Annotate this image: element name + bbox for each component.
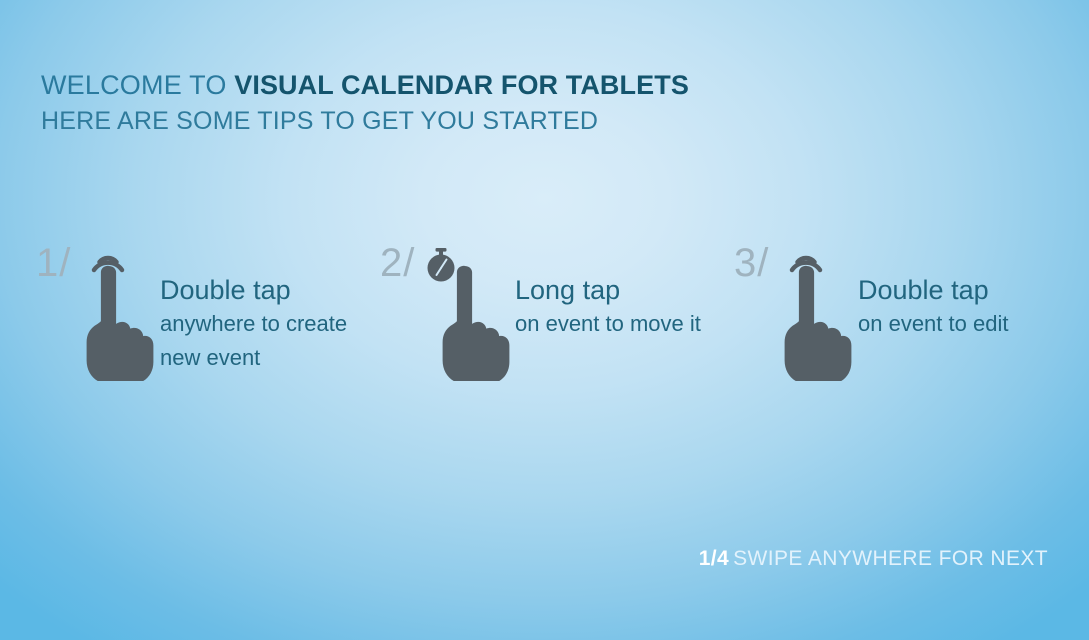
tip-text: Double tap anywhere to create new event (160, 275, 347, 373)
tip-title: Long tap (515, 275, 701, 306)
tip-text: Long tap on event to move it (515, 275, 701, 340)
hand-long-tap-stopwatch-icon (424, 241, 502, 381)
swipe-hint-bar[interactable]: 1/4SWIPE ANYWHERE FOR NEXT (699, 547, 1048, 571)
swipe-hint-label: SWIPE ANYWHERE FOR NEXT (733, 547, 1048, 570)
tips-list: 1/ Double tap anywhere to create new eve… (0, 243, 1089, 393)
tip-body-line-1: on event to move it (515, 308, 701, 339)
tip-title: Double tap (858, 275, 1008, 306)
app-name: VISUAL CALENDAR FOR TABLETS (234, 70, 689, 100)
stopwatch-glyph (428, 248, 455, 282)
tip-step-number: 2/ (380, 243, 415, 283)
tip-step-number: 3/ (734, 243, 769, 283)
hand-double-tap-icon (80, 241, 158, 381)
page-subtitle: HERE ARE SOME TIPS TO GET YOU STARTED (41, 109, 689, 134)
header: WELCOME TO VISUAL CALENDAR FOR TABLETS H… (41, 72, 689, 134)
tip-step-number: 1/ (36, 243, 71, 283)
tip-body-line-1: on event to edit (858, 308, 1008, 339)
tip-title: Double tap (160, 275, 347, 306)
tip-body-line-1: anywhere to create (160, 308, 347, 339)
tip-text: Double tap on event to edit (858, 275, 1008, 340)
hand-double-tap-icon (778, 241, 856, 381)
tip-body-line-2: new event (160, 342, 347, 373)
page-title: WELCOME TO VISUAL CALENDAR FOR TABLETS (41, 72, 689, 99)
welcome-prefix: WELCOME TO (41, 70, 234, 100)
onboarding-screen[interactable]: WELCOME TO VISUAL CALENDAR FOR TABLETS H… (0, 0, 1089, 640)
page-counter: 1/4 (699, 547, 729, 570)
